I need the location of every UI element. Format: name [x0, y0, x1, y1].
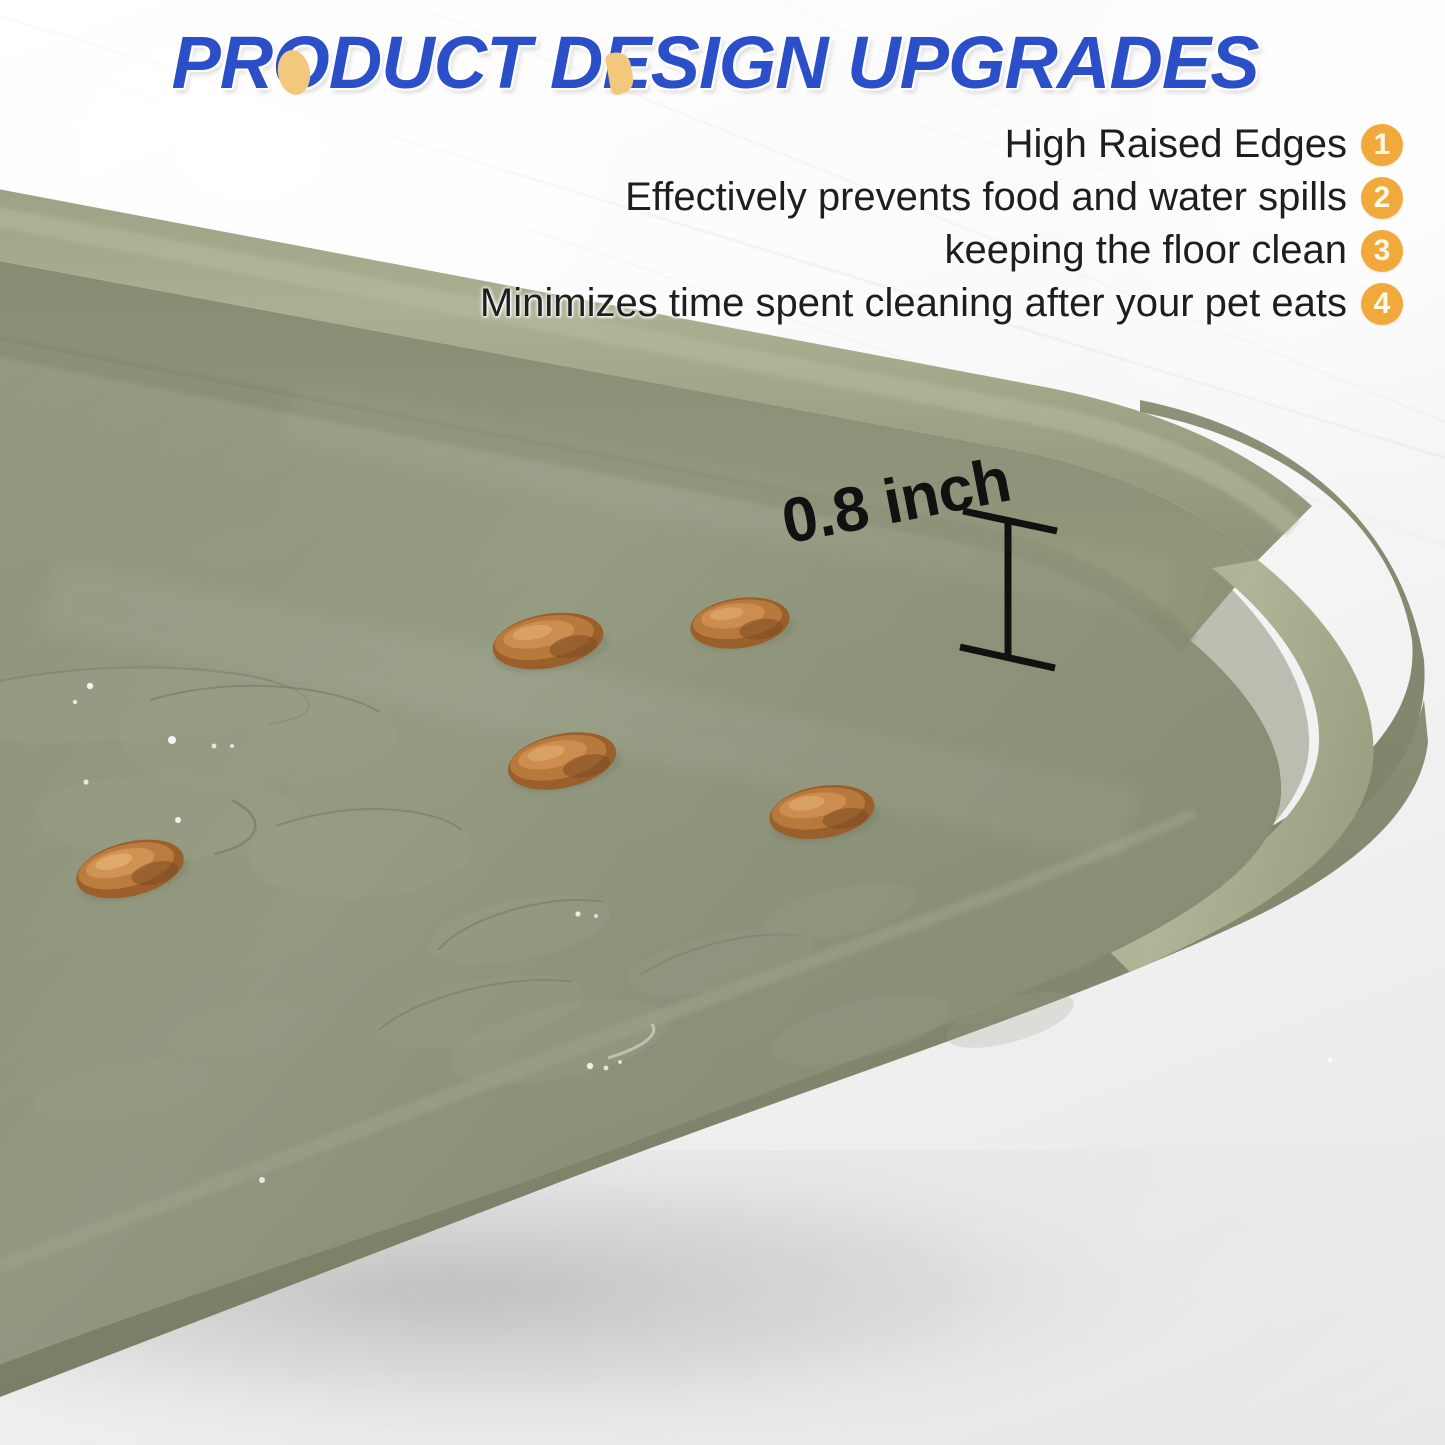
status-badge: 1: [1361, 124, 1403, 166]
list-item: Effectively prevents food and water spil…: [503, 171, 1403, 224]
list-item: keeping the floor clean 3: [503, 224, 1403, 277]
list-item: Minimizes time spent cleaning after your…: [503, 277, 1403, 330]
page-title: PRODUCT DESIGN UPGRADES: [0, 20, 1430, 105]
list-item: High Raised Edges 1: [503, 118, 1403, 171]
feature-text: Effectively prevents food and water spil…: [625, 175, 1347, 220]
feature-text: High Raised Edges: [1005, 122, 1347, 167]
product-marketing-image: 0.8 inch PRODUCT DESIGN UPGRADES High Ra…: [0, 0, 1445, 1445]
feature-list: High Raised Edges 1 Effectively prevents…: [503, 118, 1403, 330]
status-badge: 4: [1361, 283, 1403, 325]
feature-text: keeping the floor clean: [945, 228, 1348, 273]
status-badge: 2: [1361, 177, 1403, 219]
status-badge: 3: [1361, 230, 1403, 272]
feature-text: Minimizes time spent cleaning after your…: [480, 281, 1347, 326]
